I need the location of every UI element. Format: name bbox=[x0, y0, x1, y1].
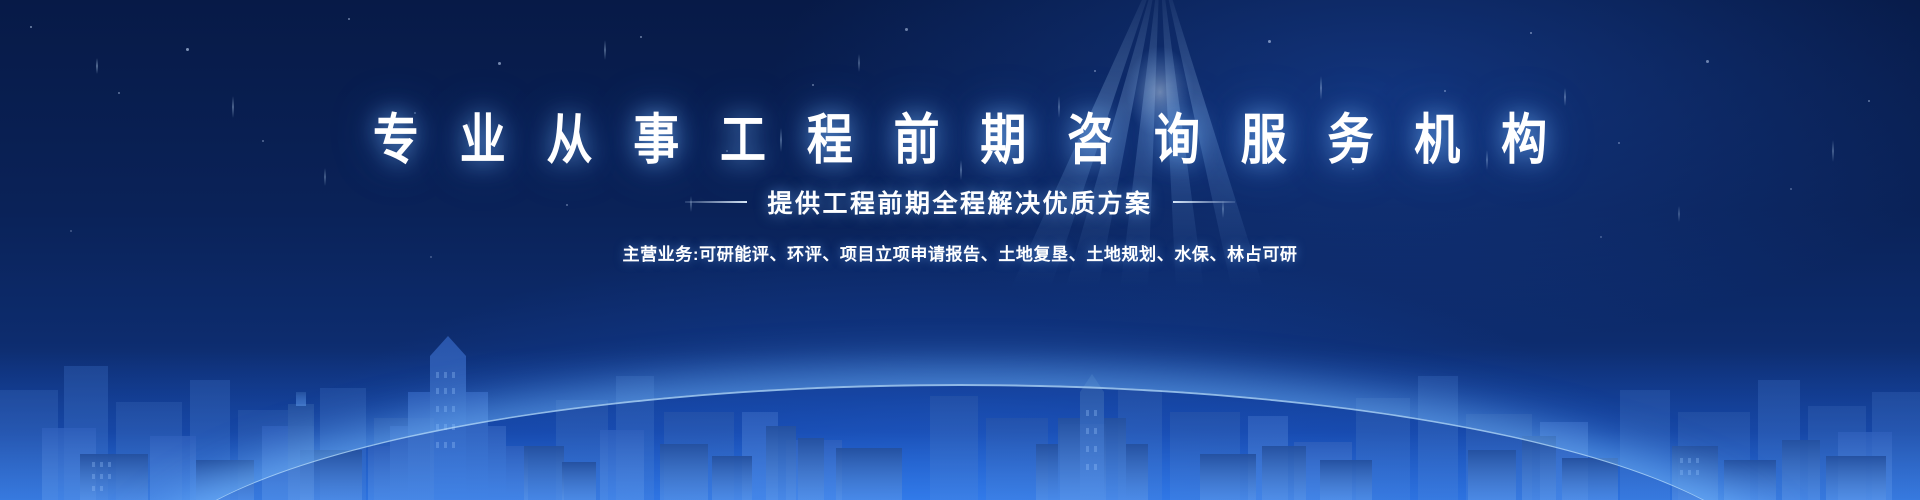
page-subtitle: 提供工程前期全程解决优质方案 bbox=[767, 184, 1152, 220]
subtitle-row: 提供工程前期全程解决优质方案 bbox=[0, 184, 1920, 220]
ground-haze bbox=[0, 350, 1920, 500]
banner-content: 专 业 从 事 工 程 前 期 咨 询 服 务 机 构 提供工程前期全程解决优质… bbox=[0, 0, 1920, 265]
divider-dash-left-icon bbox=[685, 201, 747, 203]
page-title: 专 业 从 事 工 程 前 期 咨 询 服 务 机 构 bbox=[0, 108, 1920, 172]
city-skyline-silhouette bbox=[0, 240, 1920, 500]
hero-banner: 专 业 从 事 工 程 前 期 咨 询 服 务 机 构 提供工程前期全程解决优质… bbox=[0, 0, 1920, 500]
horizon-glow-arc bbox=[0, 380, 1920, 500]
business-scope-text: 主营业务:可研能评、环评、项目立项申请报告、土地复垦、土地规划、水保、林占可研 bbox=[0, 240, 1920, 265]
divider-dash-right-icon bbox=[1173, 201, 1235, 203]
horizon-arc-line bbox=[140, 384, 1780, 500]
